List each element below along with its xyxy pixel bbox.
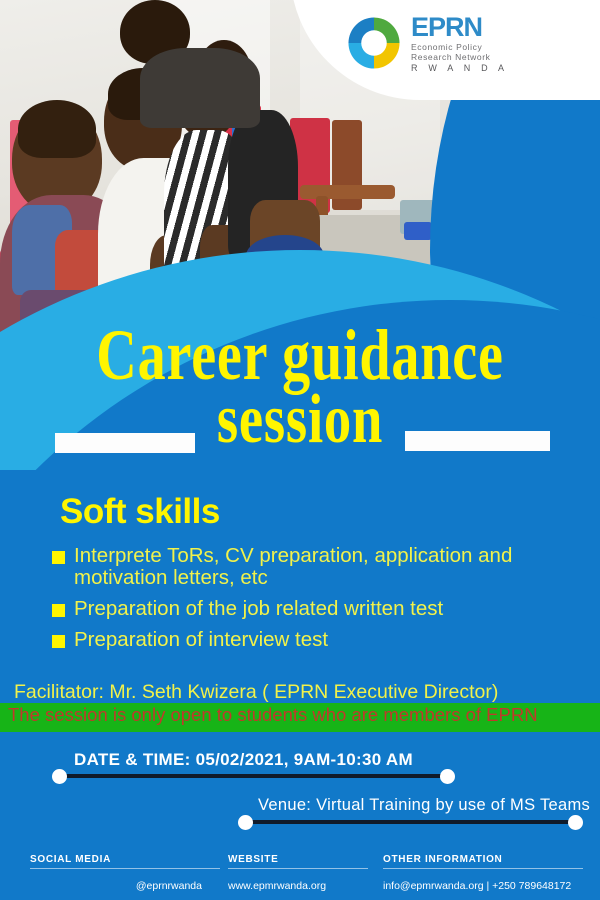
bullet-list: Interprete ToRs, CV preparation, applica… <box>52 545 572 661</box>
bullet-text: Preparation of the job related written t… <box>74 598 443 620</box>
footer-bar: SOCIAL MEDIA @eprnrwanda WEBSITE www.epm… <box>0 845 600 900</box>
logo-subline-1: Economic Policy <box>411 43 508 52</box>
eprn-logo-text: EPRN Economic Policy Research Network R … <box>411 14 508 73</box>
bullet-square-icon <box>52 635 65 648</box>
footer-heading: SOCIAL MEDIA <box>30 854 220 869</box>
social-handle[interactable]: @eprnrwanda <box>30 880 220 892</box>
facilitator-text: Facilitator: Mr. Seth Kwizera ( EPRN Exe… <box>14 681 498 704</box>
venue-text: Venue: Virtual Training by use of MS Tea… <box>258 796 590 815</box>
venue-dot-right <box>568 815 583 830</box>
date-time-text: DATE & TIME: 05/02/2021, 9AM-10:30 AM <box>74 750 413 770</box>
date-dot-right <box>440 769 455 784</box>
website-url[interactable]: www.epmrwanda.org <box>228 880 368 892</box>
poster-title: Career guidance session <box>0 322 600 453</box>
poster: EPRN Economic Policy Research Network R … <box>0 0 600 900</box>
photo-device <box>404 222 432 240</box>
logo-country: R W A N D A <box>411 64 508 73</box>
eprn-logo-icon <box>345 14 403 72</box>
list-item: Preparation of the job related written t… <box>52 598 572 620</box>
footer-column-other: OTHER INFORMATION info@epmrwanda.org | +… <box>383 854 583 892</box>
bullet-square-icon <box>52 551 65 564</box>
footer-heading: WEBSITE <box>228 854 368 869</box>
photo-chair <box>300 185 395 199</box>
logo-acronym: EPRN <box>411 14 508 41</box>
bullet-text: Interprete ToRs, CV preparation, applica… <box>74 545 572 589</box>
footer-column-website: WEBSITE www.epmrwanda.org <box>228 854 368 892</box>
footer-heading: OTHER INFORMATION <box>383 854 583 869</box>
bullet-square-icon <box>52 604 65 617</box>
list-item: Interprete ToRs, CV preparation, applica… <box>52 545 572 589</box>
footer-column-social: SOCIAL MEDIA @eprnrwanda <box>30 854 220 892</box>
eprn-logo: EPRN Economic Policy Research Network R … <box>345 8 585 78</box>
date-rail <box>62 774 452 778</box>
logo-subline-2: Research Network <box>411 53 508 62</box>
venue-dot-left <box>238 815 253 830</box>
notice-text: The session is only open to students who… <box>8 704 600 726</box>
contact-info[interactable]: info@epmrwanda.org | +250 789648172 <box>383 880 583 892</box>
venue-rail <box>246 820 576 824</box>
date-dot-left <box>52 769 67 784</box>
title-line-1: Career guidance <box>66 322 534 388</box>
title-line-2: session <box>66 388 534 452</box>
bullet-text: Preparation of interview test <box>74 629 328 651</box>
section-heading: Soft skills <box>60 492 220 532</box>
list-item: Preparation of interview test <box>52 629 572 651</box>
